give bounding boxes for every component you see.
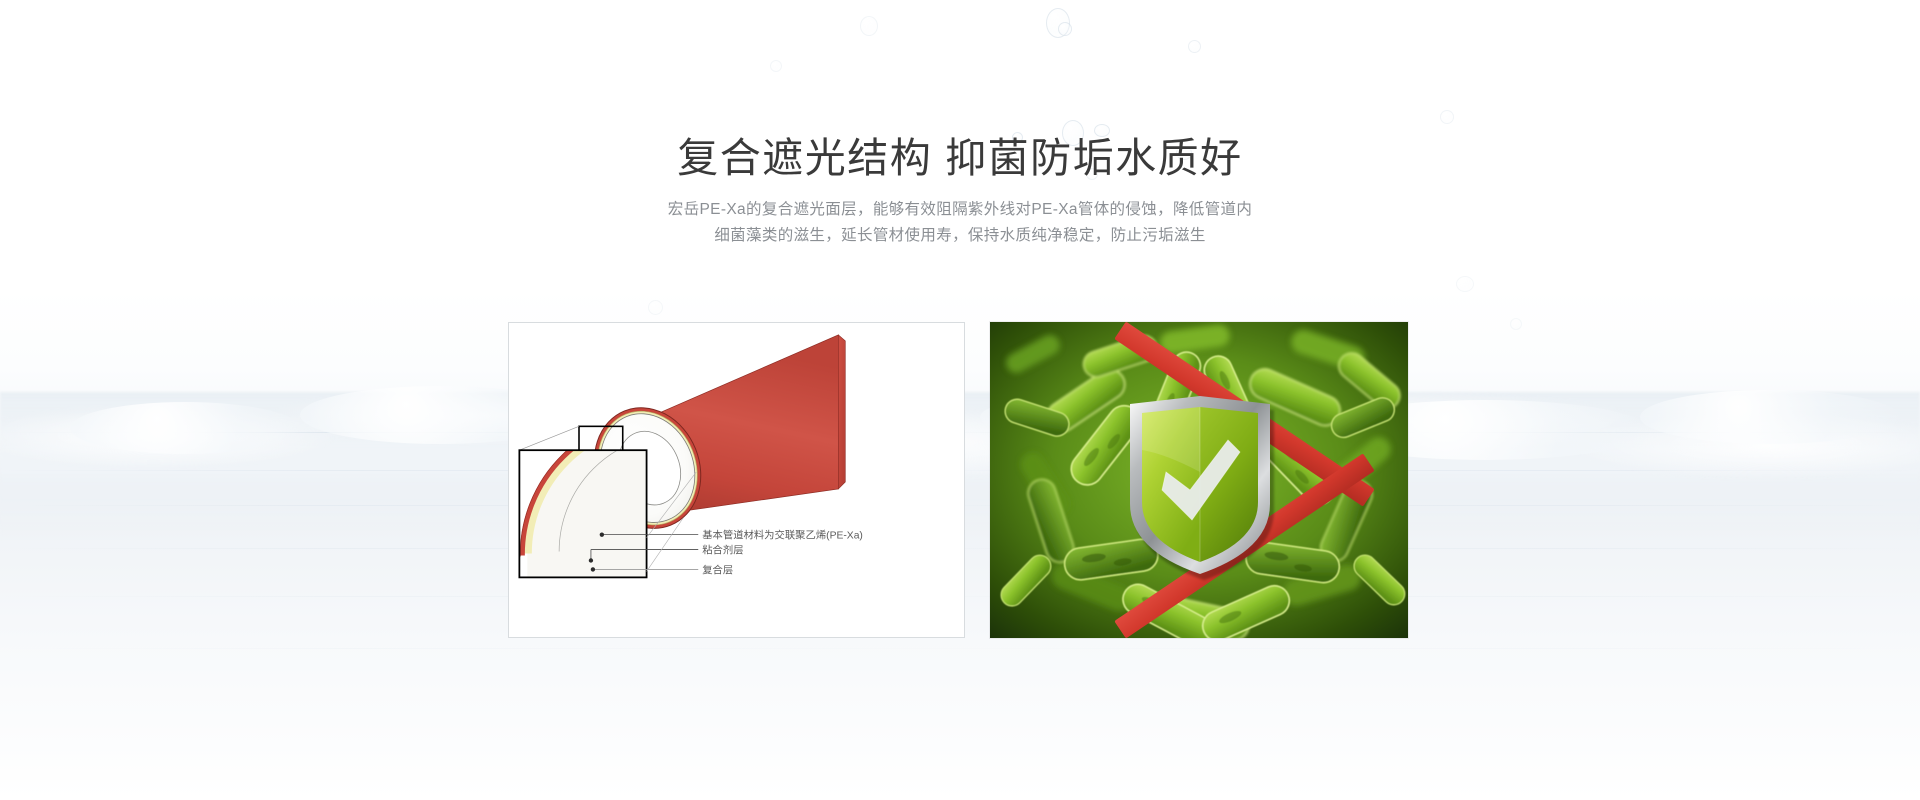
label-adhesive: 粘合剂层 [702,544,743,557]
label-core: 基本管道材料为交联聚乙烯(PE-Xa) [702,529,863,542]
subtitle-line-1: 宏岳PE-Xa的复合遮光面层，能够有效阻隔紫外线对PE-Xa管体的侵蚀，降低管道… [0,197,1920,223]
bubble-icon [1188,40,1201,53]
page-title: 复合遮光结构 抑菌防垢水质好 [0,132,1920,184]
promo-banner: 复合遮光结构 抑菌防垢水质好 宏岳PE-Xa的复合遮光面层，能够有效阻隔紫外线对… [0,0,1920,800]
bubble-icon [1510,318,1522,330]
panels-row: 基本管道材料为交联聚乙烯(PE-Xa) 粘合剂层 复合层 [508,322,1408,638]
bubble-icon [1058,22,1072,36]
bubble-icon [770,60,782,72]
subtitle-line-2: 细菌藻类的滋生，延长管材使用寿，保持水质纯净稳定，防止污垢滋生 [0,223,1920,249]
pipe-structure-panel: 基本管道材料为交联聚乙烯(PE-Xa) 粘合剂层 复合层 [508,322,965,638]
bubble-icon [1456,276,1474,292]
antibacterial-shield-panel [990,322,1408,638]
bubble-icon [860,16,878,36]
label-composite: 复合层 [702,563,733,576]
page-subtitle: 宏岳PE-Xa的复合遮光面层，能够有效阻隔紫外线对PE-Xa管体的侵蚀，降低管道… [0,197,1920,249]
water-splash [1640,390,1900,444]
bubble-icon [1440,110,1454,124]
bubble-icon [648,300,663,315]
water-ripple-line [0,648,1920,649]
header-block: 复合遮光结构 抑菌防垢水质好 宏岳PE-Xa的复合遮光面层，能够有效阻隔紫外线对… [0,132,1920,249]
water-splash [70,402,300,454]
bubble-icon [1046,8,1070,38]
